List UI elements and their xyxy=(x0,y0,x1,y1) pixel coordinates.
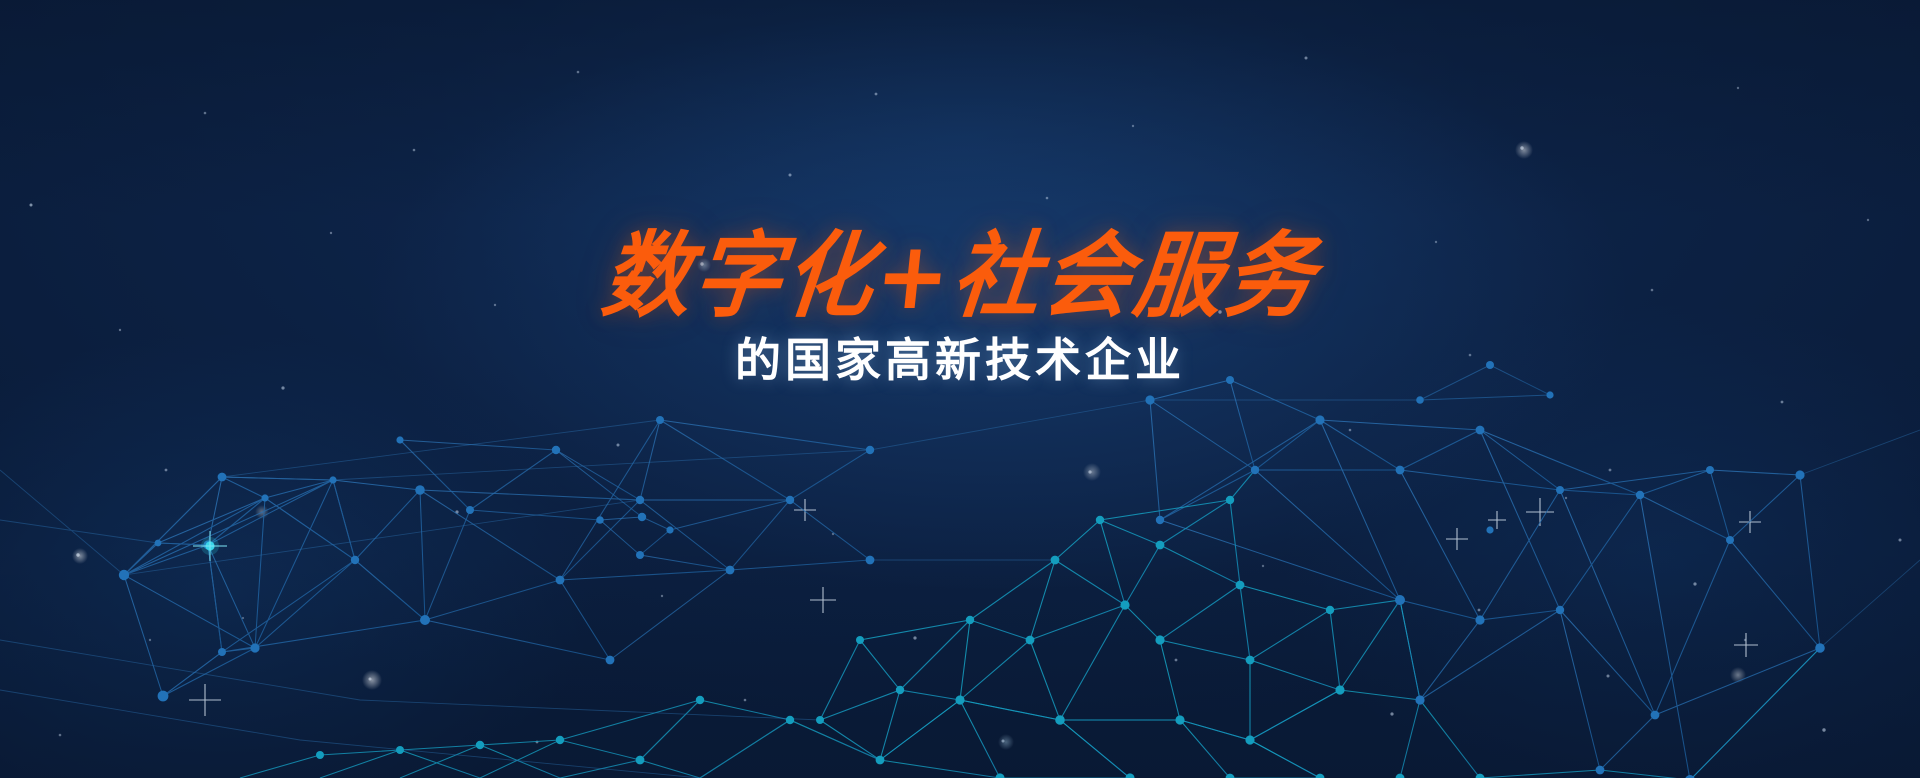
hero-text-block: 数字化+社会服务 的国家高新技术企业 xyxy=(0,228,1920,388)
hero-banner: 数字化+社会服务 的国家高新技术企业 xyxy=(0,0,1920,778)
hero-subheadline: 的国家高新技术企业 xyxy=(0,333,1920,388)
hero-headline: 数字化+社会服务 xyxy=(598,225,1322,326)
polygon-network-mesh xyxy=(0,0,1920,778)
